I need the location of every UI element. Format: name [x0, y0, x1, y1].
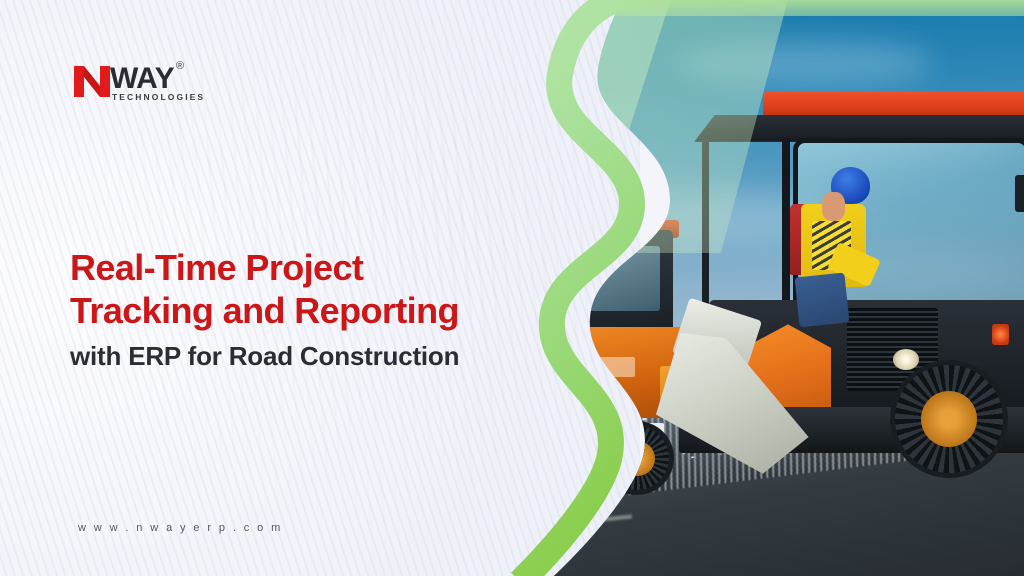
operator-leg [795, 272, 850, 327]
logo-n-icon [72, 64, 112, 98]
headline-subline: with ERP for Road Construction [70, 336, 540, 376]
paver-cab-pillar [782, 138, 790, 320]
headline-block: Real-Time Project Tracking and Reporting… [70, 246, 540, 376]
headline-line-1: Real-Time Project [70, 246, 540, 289]
paver-mirror [1015, 175, 1024, 212]
paver-headlamp [893, 349, 920, 370]
paver-taillamp [992, 324, 1009, 345]
registered-trademark-icon: ® [176, 60, 184, 72]
logo-subtitle: TECHNOLOGIES [112, 92, 205, 102]
operator-face [822, 192, 845, 221]
machine-tire [890, 360, 1008, 478]
marketing-banner: WAY ® TECHNOLOGIES Real-Time Project Tra… [0, 0, 1024, 576]
logo-wordmark: WAY [110, 62, 174, 96]
nway-logo[interactable]: WAY ® TECHNOLOGIES [72, 62, 252, 108]
headline-line-2: Tracking and Reporting [70, 289, 540, 332]
website-url[interactable]: w w w . n w a y e r p . c o m [78, 522, 283, 534]
